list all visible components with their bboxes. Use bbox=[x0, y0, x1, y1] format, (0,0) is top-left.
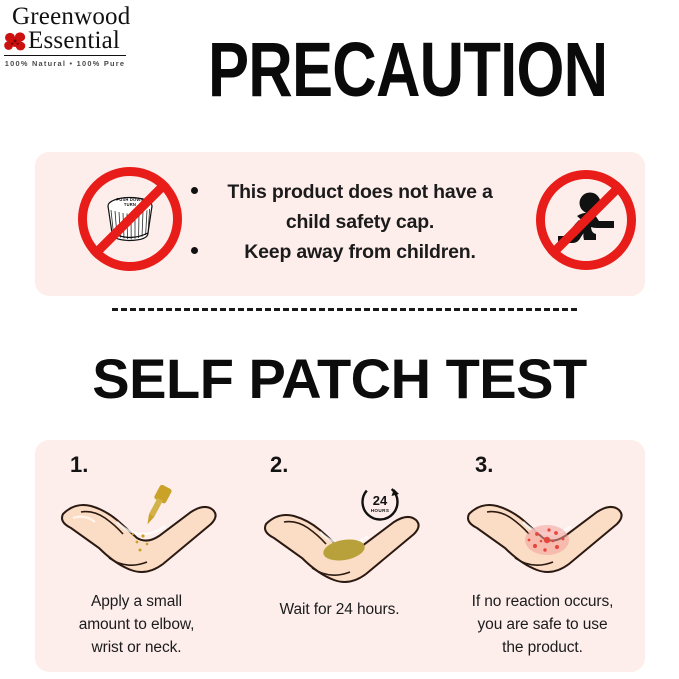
brand-name-line1: Greenwood bbox=[4, 4, 130, 29]
bullet-dot-icon bbox=[191, 187, 198, 194]
step-caption: If no reaction occurs, you are safe to u… bbox=[445, 590, 640, 659]
step-2: 2. 24 HOURS Wait for 24 hours. bbox=[238, 440, 441, 672]
step-1: 1. Apply a small bbox=[35, 440, 238, 672]
bullet-item: This product does not have a bbox=[195, 178, 525, 206]
bullet-text: child safety cap. bbox=[195, 208, 525, 236]
brand-logo: Greenwood bbox=[4, 4, 130, 68]
bullet-text: Keep away from children. bbox=[195, 238, 525, 266]
no-child-safety-cap-icon: PUSH DOWN TURN bbox=[78, 167, 182, 271]
badge-value: 24 bbox=[373, 493, 388, 508]
bullet-item-continuation: child safety cap. bbox=[195, 208, 525, 236]
bullet-item: Keep away from children. bbox=[195, 238, 525, 266]
step-caption: Wait for 24 hours. bbox=[242, 598, 437, 621]
bullet-text: This product does not have a bbox=[195, 178, 525, 206]
brand-divider bbox=[4, 55, 126, 56]
badge-unit: HOURS bbox=[371, 508, 390, 513]
precaution-bullet-list: This product does not have a child safet… bbox=[195, 178, 525, 268]
elbow-with-rash-icon bbox=[457, 478, 629, 578]
flower-icon bbox=[4, 31, 26, 52]
brand-tagline: 100% Natural • 100% Pure bbox=[4, 59, 126, 68]
bullet-dot-icon bbox=[191, 247, 198, 254]
page-title-precaution: PRECAUTION bbox=[208, 32, 528, 109]
step-number: 3. bbox=[475, 452, 493, 478]
brand-name-line2: Essential bbox=[28, 28, 120, 54]
keep-away-from-children-icon bbox=[536, 170, 636, 270]
step-caption: Apply a small amount to elbow, wrist or … bbox=[39, 590, 234, 659]
precaution-infographic: Greenwood bbox=[0, 0, 679, 679]
page-title-self-patch-test: SELF PATCH TEST bbox=[0, 350, 679, 408]
step-number: 2. bbox=[270, 452, 288, 478]
step-number: 1. bbox=[70, 452, 88, 478]
section-divider bbox=[112, 308, 577, 311]
elbow-with-dropper-icon bbox=[51, 478, 223, 578]
step-3: 3. If no reaction occurs, you bbox=[441, 440, 644, 672]
elbow-with-24h-badge-icon: 24 HOURS bbox=[254, 478, 426, 578]
